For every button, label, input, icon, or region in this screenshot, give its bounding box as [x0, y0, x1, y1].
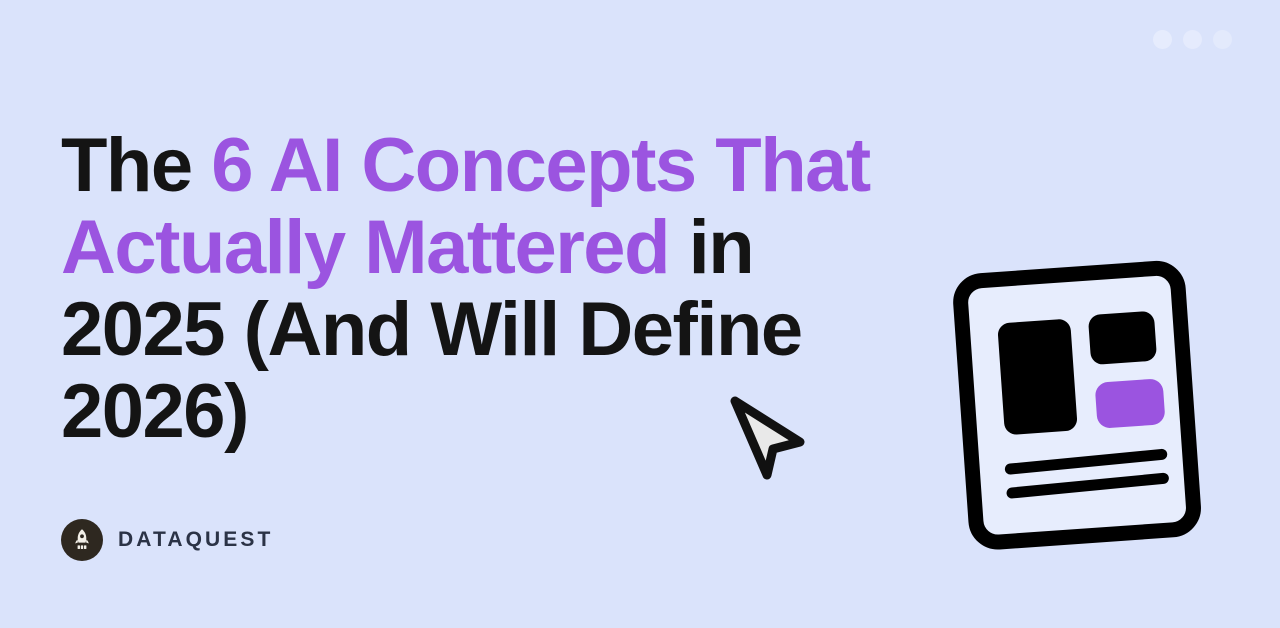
- dot-icon: [1153, 30, 1172, 49]
- rocket-icon: [71, 528, 93, 552]
- headline-segment: in: [669, 205, 753, 290]
- headline-line-2: Actually Mattered in: [61, 207, 961, 289]
- headline-segment: 2025 (And Will Define: [61, 287, 802, 372]
- image-placeholder-small: [1088, 311, 1157, 365]
- mouse-pointer-icon: [726, 394, 808, 482]
- brand-name: DATAQUEST: [118, 528, 273, 552]
- headline-segment-accent: Actually Mattered: [61, 205, 669, 290]
- headline-line-1: The 6 AI Concepts That: [61, 125, 961, 207]
- decorative-dot-cluster: [1153, 30, 1232, 49]
- headline-line-3: 2025 (And Will Define: [61, 289, 961, 371]
- image-placeholder-large: [997, 318, 1078, 435]
- document-icon: [946, 248, 1214, 560]
- page-title: The 6 AI Concepts That Actually Mattered…: [61, 125, 961, 453]
- brand-lockup: DATAQUEST: [61, 519, 273, 561]
- headline-segment: 2026): [61, 369, 248, 454]
- cover-canvas: The 6 AI Concepts That Actually Mattered…: [0, 0, 1280, 628]
- dot-icon: [1183, 30, 1202, 49]
- highlight-block: [1095, 378, 1166, 429]
- headline-segment-accent: 6 AI Concepts That: [211, 123, 869, 208]
- headline-line-4: 2026): [61, 371, 961, 453]
- brand-logo-mark: [61, 519, 103, 561]
- headline-segment: The: [61, 123, 211, 208]
- dot-icon: [1213, 30, 1232, 49]
